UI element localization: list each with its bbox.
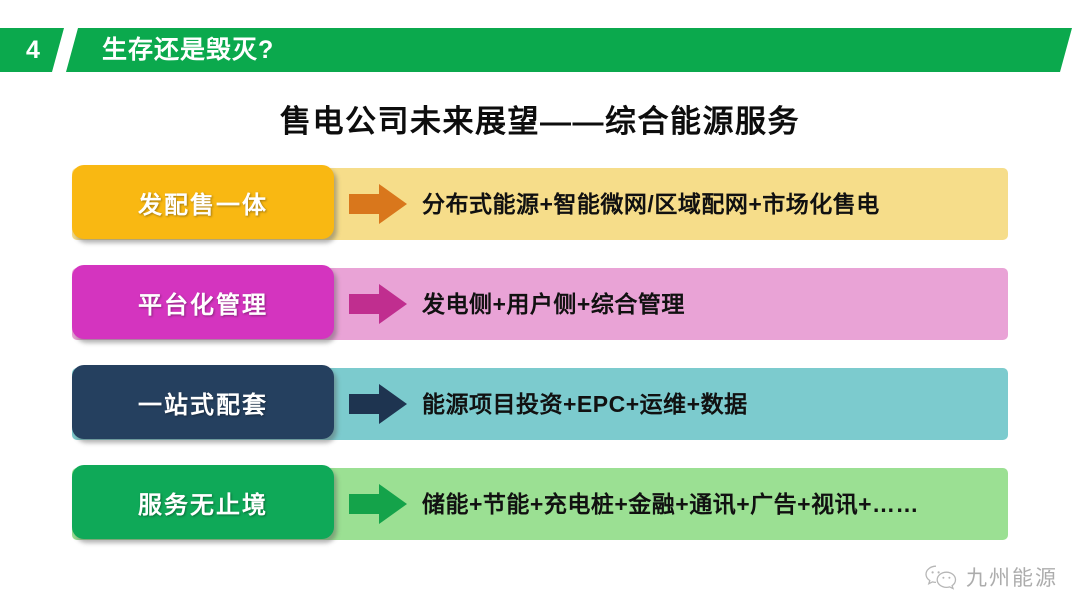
row-label-pill[interactable]: 服务无止境 bbox=[72, 465, 334, 539]
row-label-text: 发配售一体 bbox=[138, 185, 268, 220]
watermark-text: 九州能源 bbox=[966, 562, 1058, 592]
arrow-right-icon bbox=[349, 182, 407, 226]
header-section-title: 生存还是毁灭? bbox=[102, 28, 274, 72]
row-item: 一站式配套 能源项目投资+EPC+运维+数据 bbox=[72, 368, 1008, 440]
row-label-pill[interactable]: 平台化管理 bbox=[72, 265, 334, 339]
row-label-pill[interactable]: 一站式配套 bbox=[72, 365, 334, 439]
arrow-right-icon bbox=[349, 382, 407, 426]
row-label-text: 一站式配套 bbox=[138, 385, 268, 420]
arrow-right-icon bbox=[349, 482, 407, 526]
wechat-icon bbox=[924, 564, 958, 590]
row-description: 分布式能源+智能微网/区域配网+市场化售电 bbox=[422, 168, 880, 240]
header-section-number: 4 bbox=[26, 28, 40, 72]
arrow-right-icon bbox=[349, 282, 407, 326]
row-label-text: 平台化管理 bbox=[138, 285, 268, 320]
page-title: 售电公司未来展望——综合能源服务 bbox=[0, 96, 1080, 141]
watermark: 九州能源 bbox=[924, 562, 1058, 592]
row-description: 储能+节能+充电桩+金融+通讯+广告+视讯+…… bbox=[422, 468, 919, 540]
row-label-pill[interactable]: 发配售一体 bbox=[72, 165, 334, 239]
row-item: 服务无止境 储能+节能+充电桩+金融+通讯+广告+视讯+…… bbox=[72, 468, 1008, 540]
row-description: 能源项目投资+EPC+运维+数据 bbox=[422, 368, 748, 440]
row-item: 平台化管理 发电侧+用户侧+综合管理 bbox=[72, 268, 1008, 340]
rows-container: 发配售一体 分布式能源+智能微网/区域配网+市场化售电 平台化管理 发电侧+用户… bbox=[72, 168, 1008, 568]
slide-header: 4 生存还是毁灭? bbox=[0, 28, 1080, 72]
row-description: 发电侧+用户侧+综合管理 bbox=[422, 268, 685, 340]
row-label-text: 服务无止境 bbox=[138, 485, 268, 520]
row-item: 发配售一体 分布式能源+智能微网/区域配网+市场化售电 bbox=[72, 168, 1008, 240]
